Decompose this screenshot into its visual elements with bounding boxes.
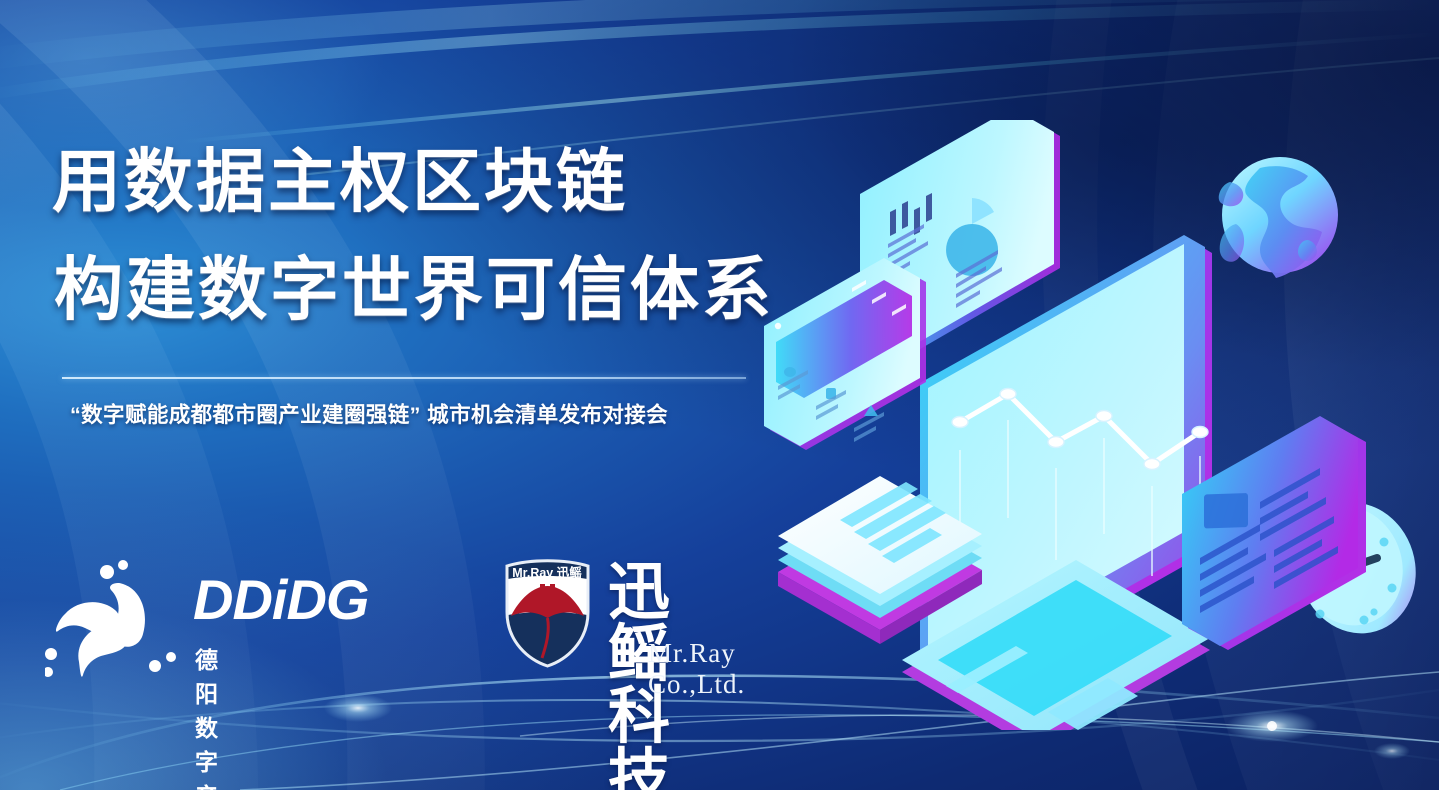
ddidg-wordmark: DDiDG: [193, 572, 368, 628]
mr-ray-shield-icon: Mr.Ray 迅鳐: [500, 556, 595, 668]
shield-banner-text: Mr.Ray 迅鳐: [512, 565, 582, 580]
mrray-english-name: Mr.Ray Co.,Ltd.: [648, 638, 745, 700]
event-subtitle: “数字赋能成都都市圈产业建圈强链” 城市机会清单发布对接会: [70, 398, 890, 429]
headline-block: 用数据主权区块链 构建数字世界可信体系: [52, 128, 892, 344]
globe-icon: [1219, 157, 1338, 278]
headline-divider: [62, 377, 746, 379]
banner-root: 用数据主权区块链 构建数字世界可信体系 “数字赋能成都都市圈产业建圈强链” 城市…: [0, 0, 1439, 790]
ddidg-chinese-name: 德阳数字产业发展集团: [195, 641, 221, 790]
logo-mrray: Mr.Ray 迅鳐 迅鳐科技 Mr.Ray Co.,Ltd.: [500, 556, 595, 673]
logo-ddidg: DDiDG 德阳数字产业发展集团: [45, 556, 185, 686]
headline-line-1: 用数据主权区块链: [52, 128, 892, 236]
headline-line-2: 构建数字世界可信体系: [54, 236, 892, 344]
ddidg-pinwheel-icon: [45, 556, 185, 681]
